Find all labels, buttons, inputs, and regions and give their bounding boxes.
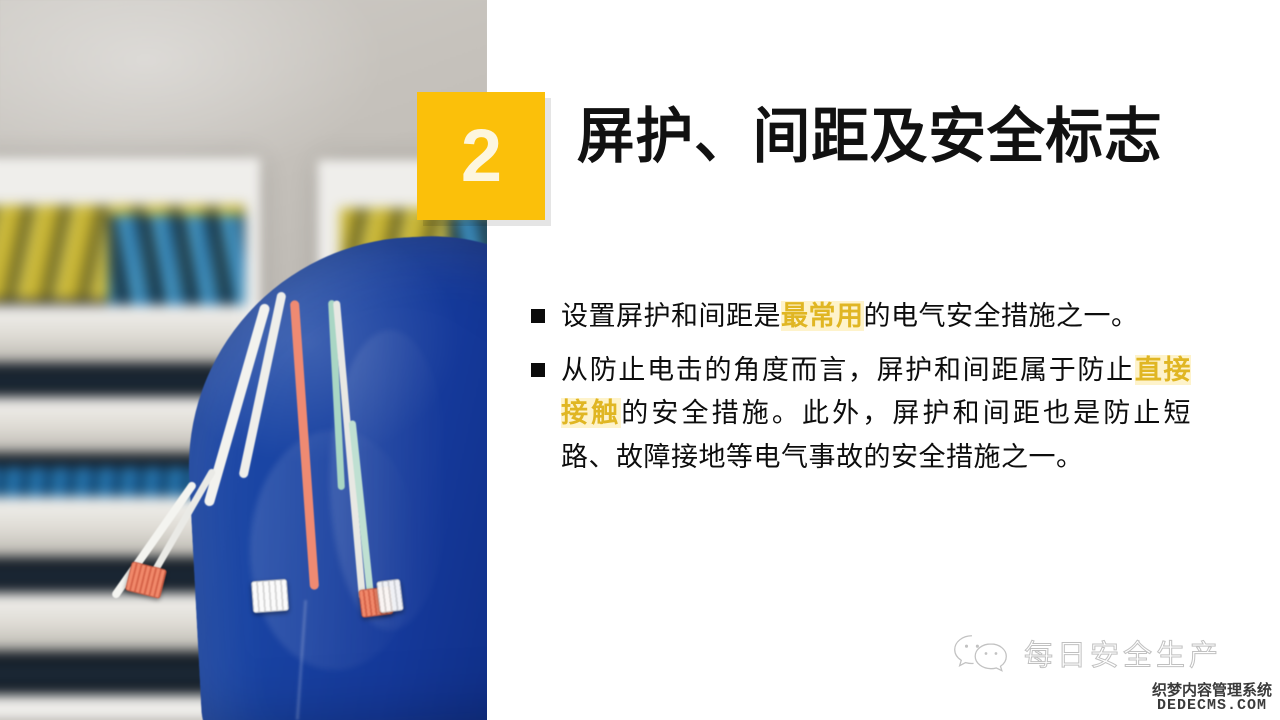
square-bullet-icon (531, 309, 545, 323)
dedecms-watermark: 织梦内容管理系统 DEDECMS.COM (1152, 683, 1272, 715)
dedecms-en-label: DEDECMS.COM (1152, 698, 1272, 714)
bullet-text-1: 设置屏护和间距是最常用的电气安全措施之一。 (561, 295, 1139, 339)
section-number-badge: 2 (417, 92, 545, 220)
bullet-1-part-1: 设置屏护和间距是 (561, 301, 781, 331)
bullet-1-part-3: 的电气安全措施之一。 (864, 301, 1139, 331)
connector-white-right (376, 579, 404, 614)
list-item: 设置屏护和间距是最常用的电气安全措施之一。 (531, 295, 1191, 339)
slide-root: 2 屏护、间距及安全标志 设置屏护和间距是最常用的电气安全措施之一。 从防止电击… (0, 0, 1280, 720)
wechat-icon (952, 633, 1010, 673)
section-number: 2 (461, 119, 501, 193)
bullet-2-part-3: 的安全措施。此外，屏护和间距也是防止短路、故障接地等电气事故的安全措施之一。 (561, 398, 1191, 472)
wechat-watermark: 每日安全生产 (952, 632, 1222, 674)
bullet-2-part-1: 从防止电击的角度而言，屏护和间距属于防止 (561, 355, 1135, 385)
bullet-1-highlight: 最常用 (781, 301, 864, 331)
content-panel: 2 屏护、间距及安全标志 设置屏护和间距是最常用的电气安全措施之一。 从防止电击… (487, 0, 1280, 720)
hero-photo (0, 0, 487, 720)
connector-white-middle (251, 579, 289, 613)
square-bullet-icon (531, 363, 545, 377)
list-item: 从防止电击的角度而言，屏护和间距属于防止直接接触的安全措施。此外，屏护和间距也是… (531, 349, 1191, 480)
hero-photo-inner (0, 0, 487, 720)
title-row: 2 屏护、间距及安全标志 (487, 92, 1187, 220)
bullet-list: 设置屏护和间距是最常用的电气安全措施之一。 从防止电击的角度而言，屏护和间距属于… (531, 295, 1191, 490)
page-title: 屏护、间距及安全标志 (577, 104, 1163, 170)
bullet-text-2: 从防止电击的角度而言，屏护和间距属于防止直接接触的安全措施。此外，屏护和间距也是… (561, 349, 1191, 480)
breaker-row (0, 305, 245, 363)
wechat-account-name: 每日安全生产 (1024, 632, 1222, 674)
dedecms-cn-label: 织梦内容管理系统 (1152, 683, 1272, 699)
